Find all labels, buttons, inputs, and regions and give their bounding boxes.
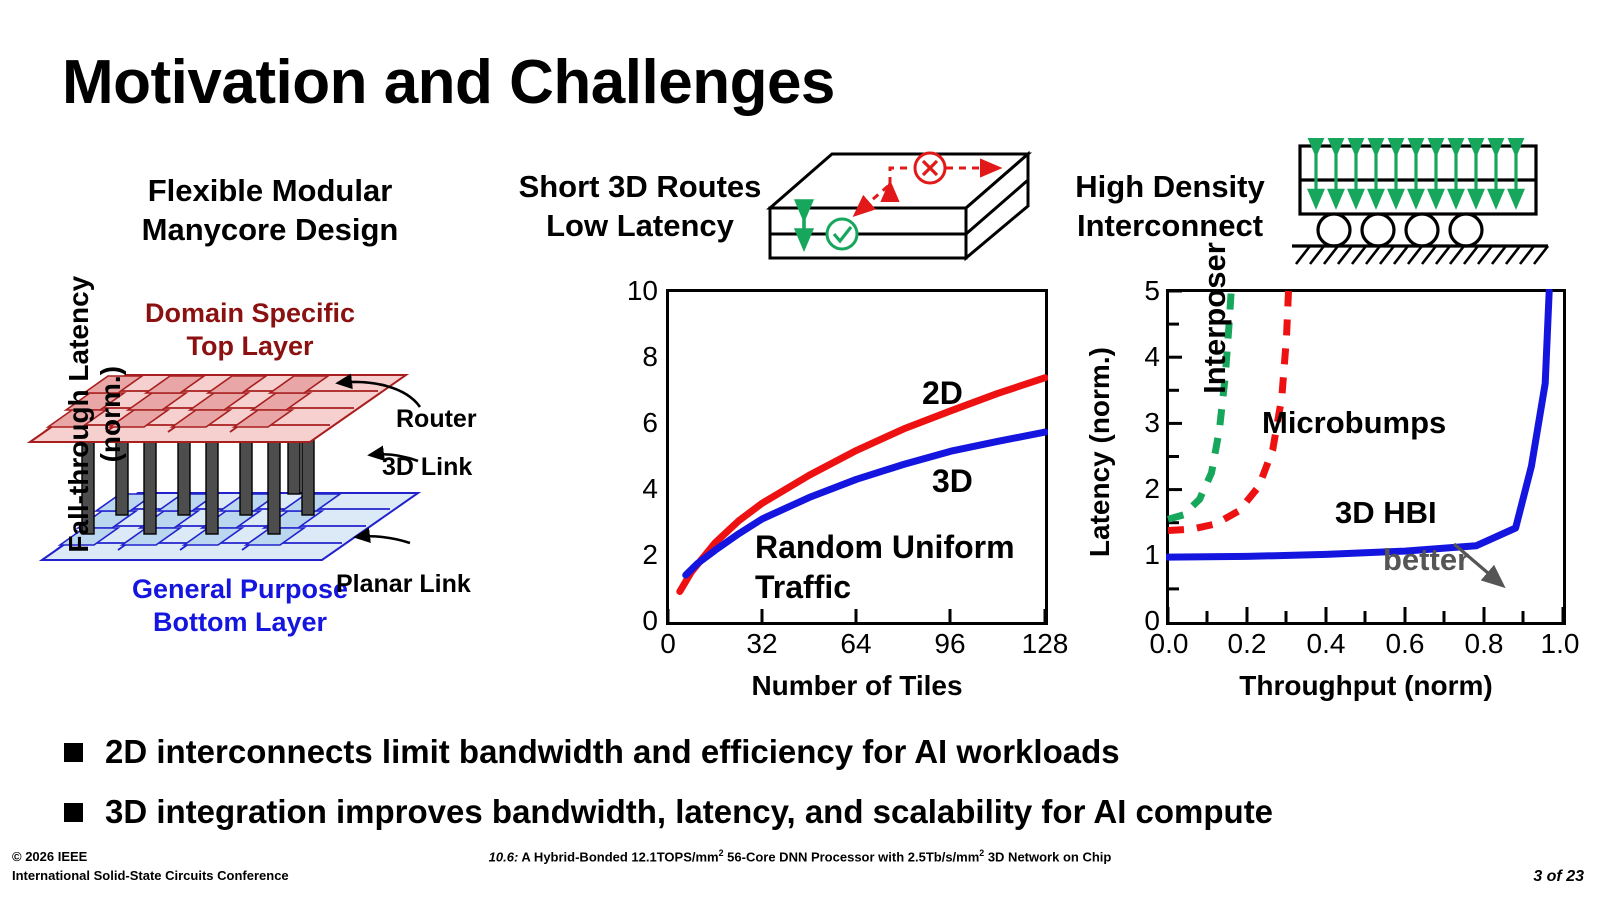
chart1-x-axis-title: Number of Tiles [666, 670, 1048, 702]
chart1-x-ticks: 0 32 64 96 128 [666, 628, 1048, 668]
bullet-item-1: 2D interconnects limit bandwidth and eff… [64, 733, 1120, 771]
chart1-y-ticks: 10 8 6 4 2 0 [596, 270, 658, 640]
chart1-ytick-8: 8 [598, 341, 658, 373]
chart2-xtick-1.0: 1.0 [1520, 628, 1600, 660]
footer-paper-title: 10.6: A Hybrid-Bonded 12.1TOPS/mm2 56-Co… [0, 848, 1600, 864]
callout-planar-link: Planar Link [336, 570, 471, 599]
chart2-xtick-0.4: 0.4 [1286, 628, 1366, 660]
chart2-x-ticks: 0.0 0.2 0.4 0.6 0.8 1.0 [1166, 628, 1566, 668]
chart2-y-ticks: 5 4 3 2 1 0 [1098, 270, 1160, 640]
chart2-xtick-0.0: 0.0 [1129, 628, 1209, 660]
solder-balls [1318, 214, 1482, 246]
chart2-label-3d-hbi: 3D HBI [1335, 495, 1437, 531]
chart2-ytick-3: 3 [1100, 407, 1160, 439]
chart1-label-2d: 2D [922, 375, 963, 412]
bullet-text-1: 2D interconnects limit bandwidth and eff… [105, 733, 1120, 771]
high-density-interconnect-diagram [1290, 138, 1550, 268]
chart2-ytick-5: 5 [1100, 275, 1160, 307]
chart1-xtick-64: 64 [826, 628, 886, 660]
chart1-ytick-4: 4 [598, 473, 658, 505]
chart2-ytick-2: 2 [1100, 473, 1160, 505]
chart2-label-interposer: Interposer [1197, 203, 1233, 433]
footer-title-post: 3D Network on Chip [984, 849, 1111, 864]
chart2-xtick-0.2: 0.2 [1207, 628, 1287, 660]
chart1-xtick-32: 32 [732, 628, 792, 660]
chart2-xtick-0.6: 0.6 [1365, 628, 1445, 660]
chart1-ytick-10: 10 [598, 275, 658, 307]
footer-title-mid: 56-Core DNN Processor with 2.5Tb/s/mm [724, 849, 980, 864]
chart1-ytick-6: 6 [598, 407, 658, 439]
chart1-xtick-128: 128 [1010, 628, 1080, 660]
heading-high-density-interconnect: High Density Interconnect [1045, 168, 1295, 246]
chart2-annotation-better: better [1383, 542, 1469, 578]
chart1-annotation: Random Uniform Traffic [755, 527, 1015, 607]
chart2-label-microbumps: Microbumps [1262, 405, 1446, 441]
chart1-y-axis-title: Fall-through Latency (norm.) [63, 234, 127, 594]
callout-3d-link: 3D Link [382, 453, 472, 482]
chart2-ytick-4: 4 [1100, 341, 1160, 373]
bullet-text-2: 3D integration improves bandwidth, laten… [105, 793, 1273, 831]
page-title: Motivation and Challenges [62, 52, 835, 114]
callout-router: Router [396, 405, 477, 434]
bullet-square-icon [64, 743, 83, 762]
bad-route-arrow-southwest [760, 136, 1040, 266]
chart1-xtick-0: 0 [638, 628, 698, 660]
heading-short-3d-routes: Short 3D Routes Low Latency [500, 168, 780, 246]
footer-talk-id: 10.6: [489, 849, 519, 864]
chart2-ytick-1: 1 [1100, 539, 1160, 571]
bullet-item-2: 3D integration improves bandwidth, laten… [64, 793, 1273, 831]
chart2-xtick-0.8: 0.8 [1444, 628, 1524, 660]
page-indicator: 3 of 23 [1533, 868, 1584, 886]
chart1-ytick-2: 2 [598, 539, 658, 571]
footer-title-pre: A Hybrid-Bonded 12.1TOPS/mm [518, 849, 718, 864]
chart1-xtick-96: 96 [920, 628, 980, 660]
bullet-square-icon [64, 803, 83, 822]
chart1-label-3d: 3D [932, 463, 973, 500]
chart2-x-axis-title: Throughput (norm) [1166, 670, 1566, 702]
